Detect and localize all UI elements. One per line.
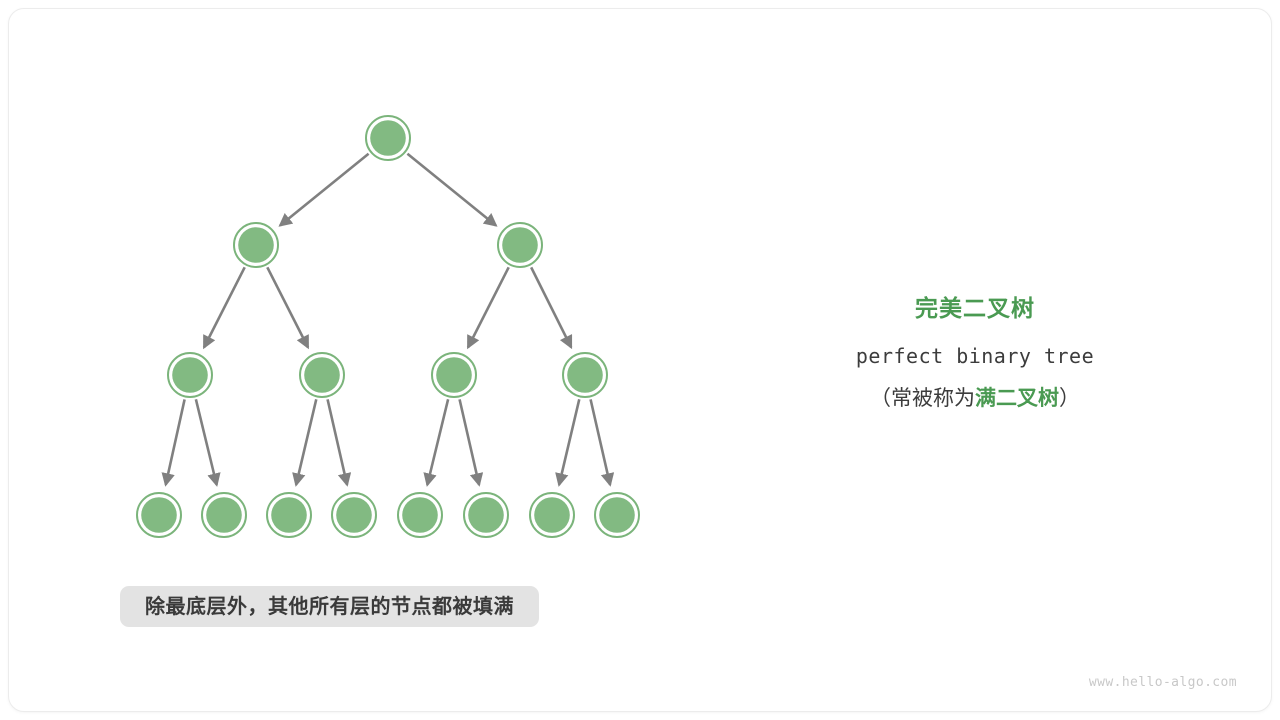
- legend-title: 完美二叉树: [805, 297, 1145, 320]
- tree-node-disc: [172, 357, 208, 393]
- tree-node-disc: [567, 357, 603, 393]
- tree-edge: [531, 267, 571, 347]
- tree-node-disc: [238, 227, 274, 263]
- tree-edge: [460, 399, 480, 484]
- tree-node: [530, 493, 574, 537]
- legend-block: 完美二叉树 perfect binary tree （常被称为满二叉树）: [805, 297, 1145, 409]
- tree-node: [267, 493, 311, 537]
- tree-edge: [468, 267, 509, 347]
- tree-node-layer: [137, 116, 639, 537]
- tree-node-disc: [304, 357, 340, 393]
- tree-node-disc: [468, 497, 504, 533]
- tree-edge: [591, 399, 611, 484]
- caption-badge: 除最底层外，其他所有层的节点都被填满: [120, 586, 539, 627]
- tree-edge: [204, 267, 245, 347]
- tree-node-disc: [271, 497, 307, 533]
- tree-node-disc: [141, 497, 177, 533]
- tree-edge-layer: [166, 154, 610, 485]
- tree-node-disc: [436, 357, 472, 393]
- tree-node-disc: [502, 227, 538, 263]
- tree-node-disc: [206, 497, 242, 533]
- legend-note-accent: 满二叉树: [975, 387, 1059, 410]
- tree-node-disc: [336, 497, 372, 533]
- tree-node-disc: [599, 497, 635, 533]
- tree-node: [168, 353, 212, 397]
- tree-edge: [427, 399, 448, 485]
- legend-subtitle: perfect binary tree: [805, 346, 1145, 366]
- tree-edge: [267, 267, 308, 347]
- legend-note-prefix: （常被称为: [870, 387, 975, 410]
- tree-edge: [559, 399, 579, 484]
- tree-edge: [296, 399, 316, 484]
- tree-node: [234, 223, 278, 267]
- tree-edge: [196, 399, 217, 485]
- tree-node-disc: [534, 497, 570, 533]
- tree-node: [366, 116, 410, 160]
- tree-node-disc: [370, 120, 406, 156]
- site-watermark: www.hello-algo.com: [1089, 676, 1237, 689]
- tree-node: [137, 493, 181, 537]
- caption-text: 除最底层外，其他所有层的节点都被填满: [145, 597, 514, 617]
- tree-node: [300, 353, 344, 397]
- tree-node: [432, 353, 476, 397]
- tree-node-disc: [402, 497, 438, 533]
- tree-node: [202, 493, 246, 537]
- tree-node: [398, 493, 442, 537]
- tree-edge: [328, 399, 348, 484]
- tree-node: [498, 223, 542, 267]
- diagram-card: 除最底层外，其他所有层的节点都被填满 完美二叉树 perfect binary …: [8, 8, 1272, 712]
- tree-node: [563, 353, 607, 397]
- legend-note: （常被称为满二叉树）: [805, 388, 1145, 409]
- tree-edge: [407, 154, 495, 226]
- tree-node: [464, 493, 508, 537]
- tree-node: [595, 493, 639, 537]
- tree-node: [332, 493, 376, 537]
- tree-edge: [280, 154, 368, 226]
- tree-edge: [166, 399, 185, 484]
- legend-note-suffix: ）: [1059, 387, 1080, 410]
